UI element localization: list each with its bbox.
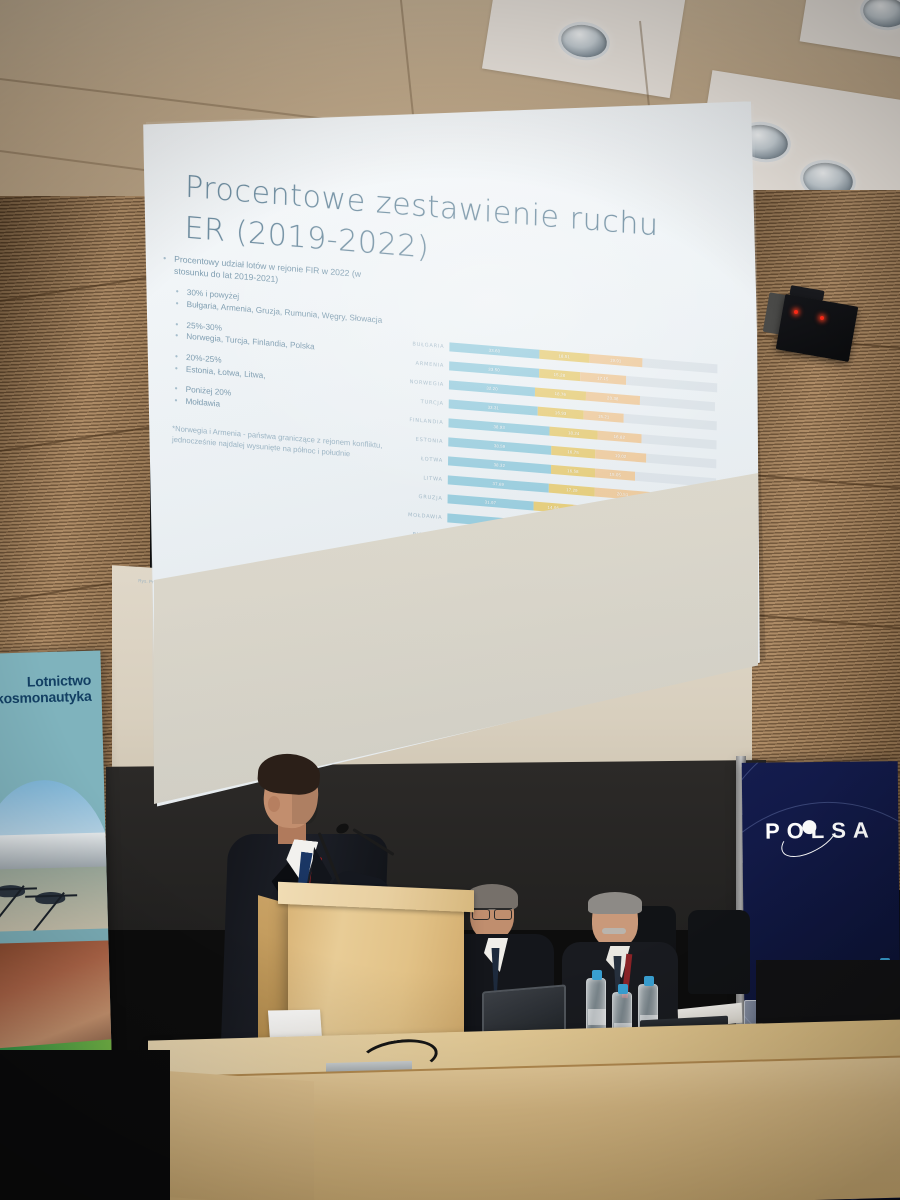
- chart-bar-segment-2020: 17.29: [549, 484, 595, 496]
- chart-bar-segment-2021: 18.66: [576, 562, 626, 574]
- chair: [688, 910, 750, 994]
- chart-bar-segment-2019: 33.52: [447, 552, 537, 568]
- chart-bar-segment-2021: 19.67: [573, 505, 626, 518]
- helicopter-icon: [0, 885, 25, 898]
- chart-category-label: RUMUNIA: [393, 529, 447, 539]
- chart-category-label: SŁOWACJA: [393, 567, 447, 577]
- chart-category-label: LITWA: [394, 472, 448, 482]
- chart-bar-segment-2021: 19.20: [583, 582, 635, 595]
- legend-label: 2022: [599, 602, 609, 608]
- chart-category-label: WĘGRY: [393, 548, 447, 558]
- chart-bar-segment-2022: [640, 396, 715, 411]
- chart-bar-segment-2021: 20.51: [595, 488, 650, 501]
- legend-label: 2020: [513, 595, 523, 601]
- conference-room-scene: Procentowe zestawienie ruchu ER (2019-20…: [0, 0, 900, 1200]
- chart-bar-segment-2022: [634, 548, 715, 563]
- chart-category-label: ESTONIA: [394, 434, 448, 444]
- chart-bar-segment-2020: 18.76: [535, 388, 585, 401]
- chart-bar-segment-2022: [626, 509, 716, 525]
- banner-left-title-line2: kosmonautyka: [0, 688, 92, 706]
- chart-bar-segment-2019: 33.60: [449, 343, 539, 359]
- chart-bar-segment-2019: 34.32: [447, 533, 539, 549]
- chart-bar-segment-2020: 18.24: [550, 427, 598, 439]
- chart-bar-segment-2020: 14.96: [533, 502, 573, 514]
- person-hair: [588, 892, 642, 914]
- legend-swatch-icon: [506, 595, 510, 599]
- speaker-hair: [257, 752, 322, 796]
- led-indicator-icon: [794, 310, 798, 314]
- chart-category-label: TURCJA: [395, 396, 449, 406]
- person-moustache: [602, 928, 626, 934]
- chart-bar-segment-2020: 16.75: [551, 446, 596, 458]
- banner-photo-airport: [0, 778, 114, 932]
- stacked-bar-chart: BUŁGARIA33.6018.5119.91ARMENIA33.5015.28…: [392, 333, 717, 649]
- chart-bar-segment-2022: [626, 376, 717, 392]
- chart-category-label: ŁOTWA: [394, 453, 448, 463]
- podium-base-block: [162, 1071, 314, 1200]
- chart-bar-segment-2022: [624, 414, 717, 430]
- presentation-slide: Procentowe zestawienie ruchu ER (2019-20…: [112, 104, 758, 676]
- chart-bar-segment-2020: 14.55: [537, 559, 576, 571]
- eyeglasses-icon: [472, 908, 512, 917]
- chart-category-label: MOŁDAWIA: [393, 510, 447, 520]
- chart-category-label: GRUZJA: [394, 491, 448, 501]
- chart-category-label: NORWEGIA: [395, 377, 449, 387]
- chart-bar-segment-2019: 33.50: [449, 362, 539, 378]
- chart-bar-segment-2021: 20.38: [585, 392, 640, 405]
- chart-bar-segment-2019: 33.31: [449, 400, 538, 416]
- legend-swatch-icon: [592, 602, 596, 606]
- legend-swatch-icon: [462, 591, 466, 595]
- chart-bar-segment-2020: 16.93: [538, 407, 583, 419]
- chart-category-label: POLSKA: [392, 586, 446, 596]
- chart-bar-segment-2020: 15.28: [539, 369, 580, 381]
- chart-bar-segment-2021: 19.27: [607, 527, 659, 540]
- chart-bar-segment-2021: 19.02: [595, 450, 646, 463]
- chart-category-label: ARMENIA: [395, 358, 449, 368]
- chart-bar-segment-2022: [659, 531, 716, 544]
- legend-swatch-icon: [549, 598, 553, 602]
- chart-bar-segment-2020: 13.56: [547, 579, 583, 590]
- chart-bar-segment-2020: 18.51: [539, 350, 589, 362]
- chart-rows: BUŁGARIA33.6018.5119.91ARMENIA33.5015.28…: [392, 333, 717, 625]
- chart-bar-segment-2022: [642, 359, 717, 374]
- speaker-ear: [268, 796, 280, 812]
- legend-label: 2021: [556, 598, 566, 604]
- chart-bar-segment-2019: 32.20: [449, 381, 535, 396]
- led-indicator-icon: [820, 316, 824, 320]
- chart-bar-segment-2022: [646, 454, 716, 468]
- chart-bar-segment-2021: 15.21: [583, 411, 624, 423]
- chart-bar-segment-2021: 19.91: [589, 354, 642, 367]
- chart-bar-segment-2022: [641, 434, 716, 449]
- slide-footnote: *Norwegia i Armenia - państwa graniczące…: [172, 422, 384, 461]
- chart-bar-segment-2020: 16.55: [563, 523, 607, 535]
- chart-bar-segment-2019: 31.97: [448, 495, 534, 510]
- bullet-group: Poniżej 20% Mołdawia: [172, 383, 384, 424]
- chart-bar-segment-2022: [626, 566, 715, 582]
- chart-bar-segment-2021: 20.81: [578, 543, 634, 556]
- chart-bar-segment-2021: 17.15: [580, 372, 626, 384]
- chart-bar-segment-2021: 16.82: [597, 431, 641, 443]
- banner-left-title: Lotnictwo kosmonautyka: [0, 673, 98, 707]
- chart-bar-segment-2022: [650, 492, 716, 506]
- chart-bar-segment-2020: 16.58: [551, 465, 596, 477]
- legend-label: 2019: [469, 591, 479, 597]
- chart-bar-segment-2022: [635, 586, 715, 601]
- floor-shadow: [0, 1050, 170, 1200]
- chart-category-label: FINLANDIA: [394, 415, 448, 425]
- helicopter-icon: [35, 892, 65, 905]
- chart-bar-segment-2022: [635, 472, 716, 487]
- chart-bar-segment-2020: 14.70: [539, 540, 578, 552]
- slide-bullet-list: Procentowy udział lotów w rejonie FIR w …: [172, 253, 386, 462]
- chart-bar-segment-2021: 15.05: [595, 469, 635, 481]
- chart-category-label: BUŁGARIA: [395, 339, 449, 349]
